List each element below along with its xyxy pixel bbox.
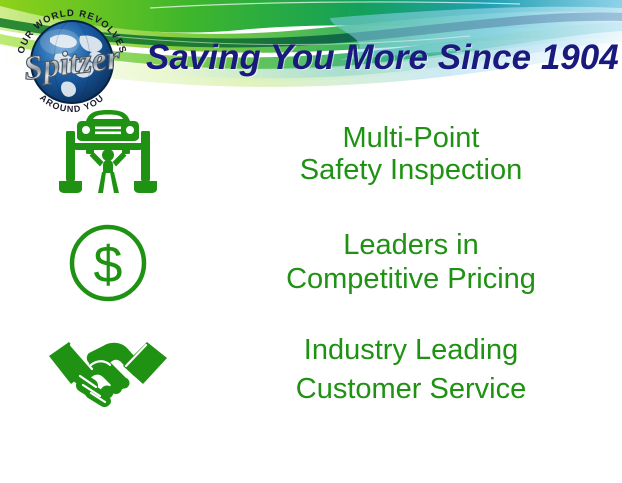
feature-line-1: Leaders in (208, 229, 614, 263)
feature-text-competitive-pricing: Leaders in Competitive Pricing (208, 229, 614, 296)
car-on-lift-icon (8, 109, 208, 199)
feature-line-2: Competitive Pricing (208, 263, 614, 297)
feature-row-competitive-pricing: $ Leaders in Competitive Pricing (8, 218, 614, 308)
spitzer-globe-logo: OUR WORLD REVOLVES AROUND YOU Spitzer (6, 4, 138, 116)
feature-line-2: Safety Inspection (208, 154, 614, 186)
feature-line-2: Customer Service (208, 370, 614, 409)
page-title: Saving You More Since 1904 (146, 38, 616, 78)
feature-text-safety-inspection: Multi-Point Safety Inspection (208, 122, 614, 187)
handshake-icon (8, 332, 208, 408)
feature-row-customer-service: Industry Leading Customer Service (8, 322, 614, 418)
slide-canvas: OUR WORLD REVOLVES AROUND YOU Spitzer Sa… (0, 0, 622, 483)
feature-row-safety-inspection: Multi-Point Safety Inspection (8, 108, 614, 200)
dollar-circle-icon: $ (8, 221, 208, 305)
feature-line-1: Multi-Point (208, 122, 614, 154)
feature-text-customer-service: Industry Leading Customer Service (208, 331, 614, 409)
svg-text:$: $ (94, 236, 123, 294)
feature-line-1: Industry Leading (208, 331, 614, 370)
